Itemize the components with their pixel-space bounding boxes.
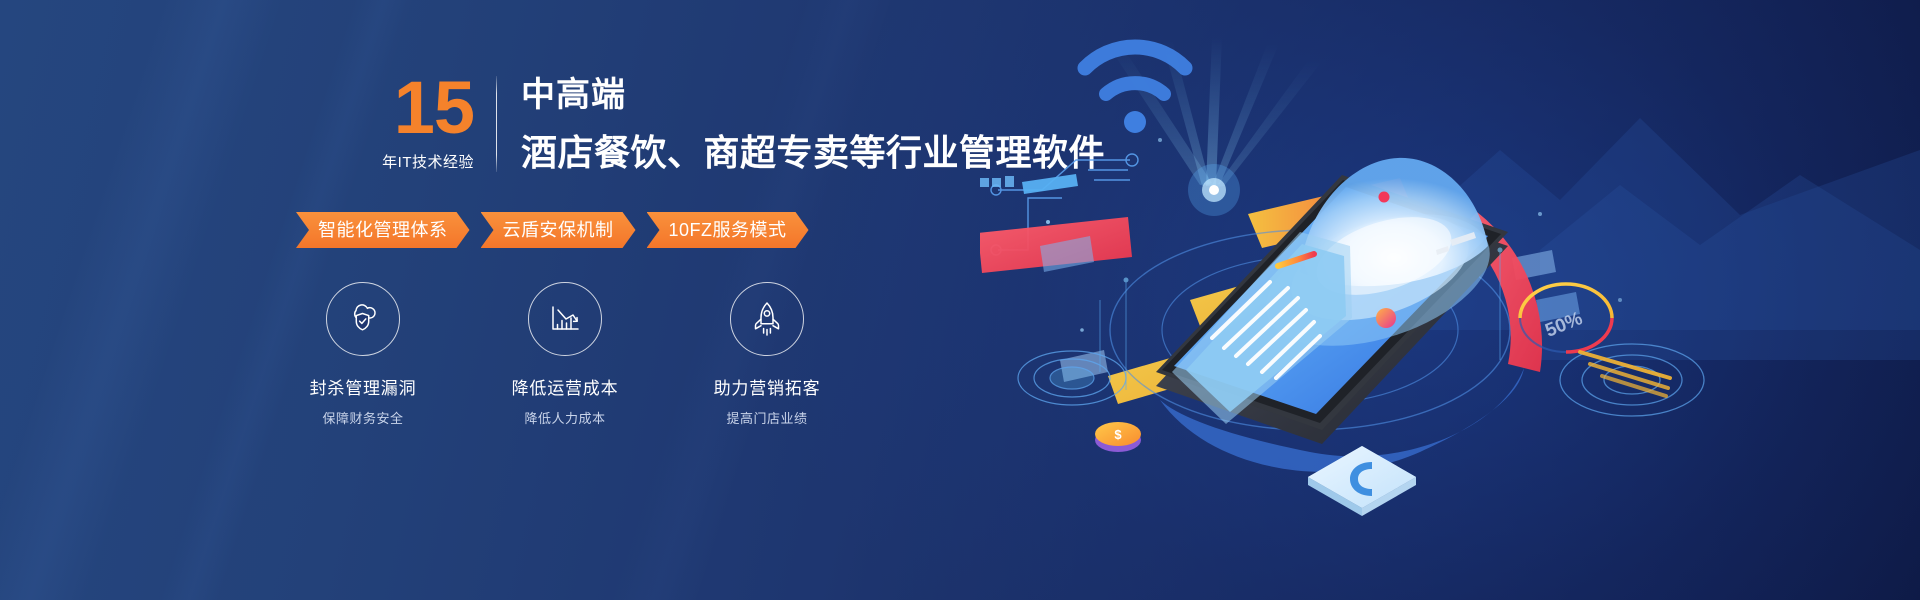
feature-item[interactable]: 降低运营成本 降低人力成本 (492, 282, 638, 427)
feature-icon-circle (326, 282, 400, 356)
feature-subtitle: 保障财务安全 (322, 408, 403, 427)
feature-list: 封杀管理漏洞 保障财务安全 (290, 282, 840, 427)
feature-title: 封杀管理漏洞 (310, 374, 417, 399)
rocket-icon (749, 300, 785, 338)
declining-bar-chart-icon (546, 302, 584, 336)
circuit-blocks (980, 174, 1078, 194)
feature-title: 助力营销拓客 (714, 374, 821, 399)
feature-subtitle: 提高门店业绩 (726, 408, 807, 427)
radar-rings (1560, 344, 1704, 416)
tag-pill[interactable]: 10FZ服务模式 (647, 212, 809, 248)
feature-subtitle: 降低人力成本 (524, 408, 605, 427)
hero-illustration: $ 50% (980, 0, 1920, 600)
left-content: 15 年IT技术经验 中高端 酒店餐饮、商超专卖等行业管理软件 智能化管理体系 … (0, 0, 900, 600)
tag-list: 智能化管理体系 云盾安保机制 10FZ服务模式 (296, 212, 809, 248)
cloud-shield-check-icon (343, 301, 383, 337)
tag-pill[interactable]: 智能化管理体系 (296, 212, 470, 248)
glow-starburst (1188, 164, 1240, 216)
feature-title: 降低运营成本 (512, 374, 619, 399)
tag-pill[interactable]: 云盾安保机制 (481, 212, 636, 248)
coin-dollar-icon: $ (1095, 422, 1141, 452)
years-block: 15 年IT技术经验 (296, 74, 496, 174)
feature-item[interactable]: 助力营销拓客 提高门店业绩 (694, 282, 840, 427)
promo-banner: 15 年IT技术经验 中高端 酒店餐饮、商超专卖等行业管理软件 智能化管理体系 … (0, 0, 1920, 600)
floating-ball (1376, 308, 1396, 328)
feature-icon-circle (730, 282, 804, 356)
feature-item[interactable]: 封杀管理漏洞 保障财务安全 (290, 282, 436, 427)
radar-rings (1018, 351, 1126, 405)
feature-icon-circle (528, 282, 602, 356)
phone-indicator-dot (1379, 192, 1390, 203)
years-label: 年IT技术经验 (382, 151, 474, 172)
years-number: 15 (394, 74, 474, 142)
svg-text:$: $ (1114, 427, 1122, 442)
